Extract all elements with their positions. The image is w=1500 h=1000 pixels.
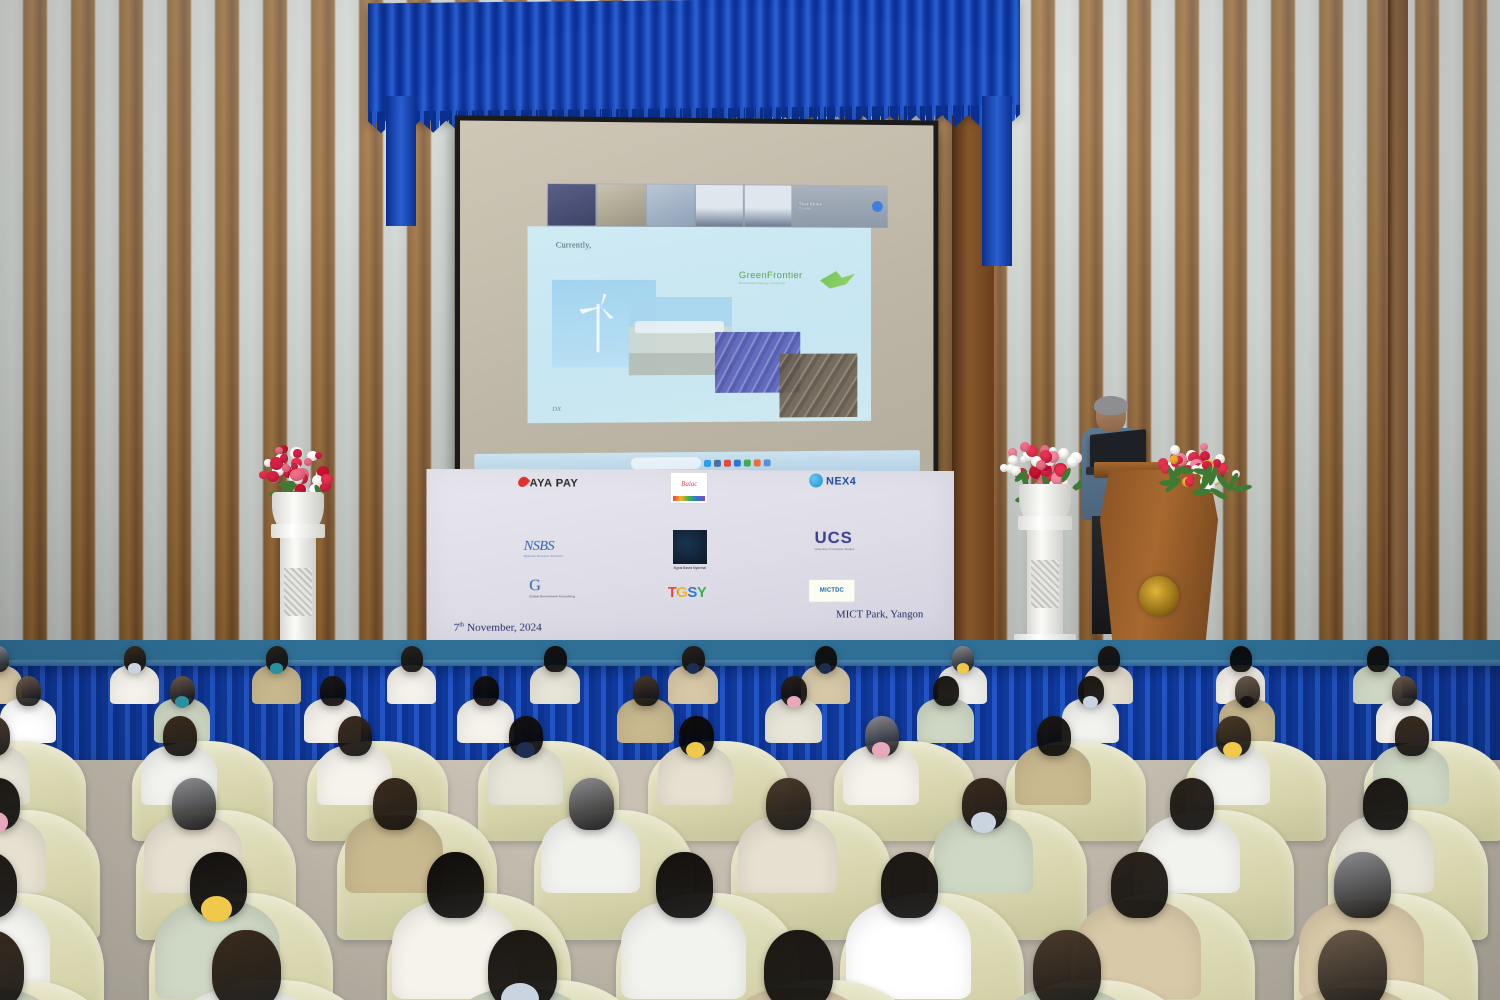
- conference-hall-photo: Thet Khine Co-Host Currently, GreenFront…: [0, 0, 1500, 1000]
- ucs-logo: UCSUniversity of Computer Studies: [815, 529, 855, 552]
- store-icon[interactable]: [743, 459, 750, 466]
- hair-accessory: [819, 663, 831, 673]
- teams-icon[interactable]: [753, 459, 760, 466]
- valance-side-left: [386, 96, 416, 226]
- attendee-head: [16, 676, 42, 706]
- attendee-head: [881, 852, 938, 918]
- flower: [321, 474, 332, 485]
- hair-accessory: [687, 663, 699, 673]
- wood-pillar-right: [1388, 0, 1408, 700]
- flower: [270, 457, 283, 470]
- slide-footer-mark: DX: [552, 406, 561, 413]
- mictdc-logo: MICTDC: [809, 580, 854, 602]
- video-tile: [696, 185, 743, 226]
- attendee-head: [1230, 646, 1252, 672]
- video-call-filmstrip: Thet Khine Co-Host: [547, 183, 887, 228]
- attendee-head: [933, 676, 959, 706]
- participant-role: Co-Host: [799, 207, 867, 211]
- flower: [1036, 460, 1046, 470]
- pedestal-lattice: [284, 568, 312, 616]
- app-icon[interactable]: [773, 459, 780, 466]
- projection-screen-frame: Thet Khine Co-Host Currently, GreenFront…: [455, 115, 938, 490]
- flower: [315, 452, 322, 459]
- attendee-head: [320, 676, 346, 706]
- folder-icon[interactable]: [704, 460, 711, 467]
- flower: [293, 449, 302, 458]
- flower: [1020, 442, 1030, 452]
- flower: [275, 447, 283, 455]
- office-icon[interactable]: [733, 459, 740, 466]
- podium-emblem: [1139, 576, 1179, 616]
- flower: [1040, 450, 1051, 461]
- gec-logo: GGlobal Enrichment Consulting: [529, 577, 575, 599]
- presentation-slide: Currently, GreenFrontier Renewable Energ…: [528, 227, 871, 423]
- orb-icon: [809, 474, 823, 488]
- podium-flower-arrangement: [1152, 440, 1248, 500]
- hair-accessory: [128, 663, 140, 673]
- attendee-head: [401, 646, 423, 672]
- drop-icon: [516, 475, 530, 489]
- attendee-head: [1363, 778, 1408, 830]
- attendee-head: [163, 716, 197, 756]
- video-tile: [647, 185, 694, 227]
- banner-date: 7th November, 2024: [454, 622, 542, 634]
- video-tile: [745, 185, 792, 226]
- pedestal-lattice: [1031, 560, 1059, 608]
- flower: [1020, 456, 1027, 463]
- sponsor-backdrop-banner: AYA PAY Balac NEX4 NSBSMyanmar Business …: [427, 469, 954, 643]
- aya-pay-logo: AYA PAY: [518, 476, 578, 489]
- blue-curtain-valance: [368, 0, 1020, 121]
- flower: [1008, 455, 1018, 465]
- hair-accessory: [787, 696, 801, 708]
- projection-screen: Thet Khine Co-Host Currently, GreenFront…: [460, 120, 933, 485]
- nsbs-logo: NSBSMyanmar Business Solutions: [524, 539, 563, 558]
- attendee-head: [569, 778, 614, 830]
- flower: [1067, 456, 1078, 467]
- attendee-head: [766, 778, 811, 830]
- attendee-head: [764, 930, 833, 1000]
- attendee-head: [1033, 930, 1102, 1000]
- explorer-icon[interactable]: [724, 459, 731, 466]
- video-tile: [548, 184, 596, 226]
- attendee-head: [1392, 676, 1418, 706]
- attendee-head: [473, 676, 499, 706]
- flower: [1200, 443, 1208, 451]
- chrome-icon[interactable]: [763, 459, 770, 466]
- attendee-head: [373, 778, 418, 830]
- nex4-logo: NEX4: [809, 474, 856, 488]
- presenter-hair: [1094, 396, 1128, 415]
- flower: [267, 471, 279, 483]
- flower: [1170, 455, 1178, 463]
- attendee-head: [338, 716, 372, 756]
- hair-accessory: [957, 663, 969, 673]
- search-input[interactable]: [630, 457, 700, 470]
- flower: [290, 469, 302, 481]
- attendee-head: [1334, 852, 1391, 918]
- attendee-head: [1111, 852, 1168, 918]
- flower: [304, 458, 312, 466]
- hair-accessory: [1083, 696, 1097, 708]
- attendee-head: [1098, 646, 1120, 672]
- attendee-head: [427, 852, 484, 918]
- xignal-logo: Xignal Based Myanmar: [673, 530, 707, 564]
- solar-array-dark-photo: [780, 353, 858, 417]
- video-tile: [598, 184, 645, 226]
- slide-title: Currently,: [556, 240, 592, 249]
- banner-venue: MICT Park, Yangon: [836, 609, 923, 621]
- attendee-head: [1170, 778, 1215, 830]
- tgsy-logo: TGSY: [668, 583, 707, 600]
- attendee-head: [212, 930, 281, 1000]
- participant-name: Thet Khine Co-Host: [793, 185, 867, 228]
- attendee-head: [1395, 716, 1429, 756]
- flower: [1185, 477, 1195, 487]
- attendee-head: [1318, 930, 1387, 1000]
- flower: [1170, 445, 1180, 455]
- hair-accessory: [1240, 696, 1254, 708]
- attendee-head: [656, 852, 713, 918]
- balac-logo: Balac: [670, 472, 708, 504]
- attendee-head: [633, 676, 659, 706]
- attendee-head: [172, 778, 217, 830]
- greenfrontier-logo: GreenFrontier Renewable Energy Solutions: [739, 270, 851, 285]
- hair-accessory: [175, 696, 189, 708]
- attendee-head: [1037, 716, 1071, 756]
- valance-side-right: [982, 96, 1012, 266]
- hair-accessory: [270, 663, 282, 673]
- hair-accessory: [971, 812, 996, 833]
- edge-icon[interactable]: [714, 460, 721, 467]
- avatar: [872, 201, 883, 212]
- attendee-head: [1367, 646, 1389, 672]
- attendee-head: [544, 646, 566, 672]
